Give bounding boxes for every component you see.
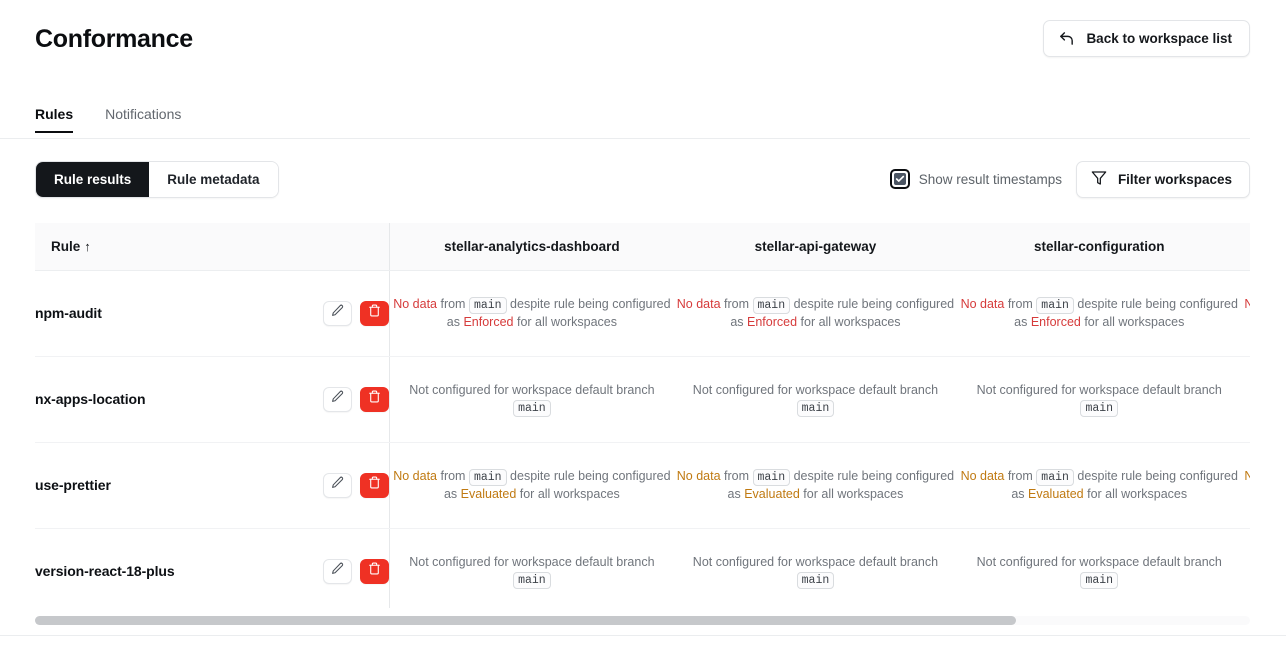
status-highlight: No data xyxy=(1244,469,1250,483)
filter-workspaces-label: Filter workspaces xyxy=(1118,172,1232,187)
edit-pencil-icon xyxy=(331,562,344,580)
page-header: Conformance Back to workspace list xyxy=(0,0,1286,80)
result-cell: Not configured for workspace default bra… xyxy=(674,356,958,442)
sort-ascending-icon: ↑ xyxy=(84,239,91,254)
rule-cell: nx-apps-location xyxy=(35,356,390,442)
status-highlight: No data xyxy=(393,469,437,483)
edit-pencil-icon xyxy=(331,390,344,408)
column-header-workspace-1[interactable]: stellar-api-gateway xyxy=(674,223,958,270)
edit-rule-button[interactable] xyxy=(323,387,352,412)
result-cell: No data from main despite rule being con… xyxy=(957,442,1241,528)
delete-rule-button[interactable] xyxy=(360,473,389,498)
status-highlight: No data xyxy=(961,469,1005,483)
status-highlight: No data xyxy=(961,297,1005,311)
branch-chip: main xyxy=(513,572,551,589)
table-row: nx-apps-locationNot configured for works… xyxy=(35,356,1250,442)
conformance-results-table: Rule↑ stellar-analytics-dashboard stella… xyxy=(35,223,1250,608)
rule-actions xyxy=(323,559,389,584)
column-header-rule-label: Rule xyxy=(51,239,80,254)
tab-bar: Rules Notifications xyxy=(35,106,213,133)
edit-rule-button[interactable] xyxy=(323,473,352,498)
result-cell: No data from main despite rule being con… xyxy=(390,442,674,528)
column-header-workspace-0[interactable]: stellar-analytics-dashboard xyxy=(390,223,674,270)
delete-rule-button[interactable] xyxy=(360,301,389,326)
back-to-workspace-list-button[interactable]: Back to workspace list xyxy=(1043,20,1250,57)
rule-name: nx-apps-location xyxy=(35,391,145,407)
result-cell: Not configured for workspace default bra… xyxy=(1241,528,1250,608)
edit-rule-button[interactable] xyxy=(323,559,352,584)
segment-rule-results[interactable]: Rule results xyxy=(36,162,149,197)
rule-actions xyxy=(323,473,389,498)
delete-trash-icon xyxy=(368,562,381,580)
branch-chip: main xyxy=(469,297,507,314)
show-result-timestamps-label: Show result timestamps xyxy=(919,172,1062,187)
column-header-rule[interactable]: Rule↑ xyxy=(35,223,390,270)
tabs-underline-divider xyxy=(0,138,1250,139)
column-header-workspace-2[interactable]: stellar-configuration xyxy=(957,223,1241,270)
result-cell: No data from main despite rule being con… xyxy=(957,270,1241,356)
toolbar: Rule results Rule metadata Show result t… xyxy=(35,161,1250,198)
delete-trash-icon xyxy=(368,476,381,494)
branch-chip: main xyxy=(469,469,507,486)
show-result-timestamps-control[interactable]: Show result timestamps xyxy=(890,169,1062,189)
table-body: npm-auditNo data from main despite rule … xyxy=(35,270,1250,608)
funnel-icon xyxy=(1091,170,1107,189)
conformance-results-table-scroll-area[interactable]: Rule↑ stellar-analytics-dashboard stella… xyxy=(35,223,1250,608)
branch-chip: main xyxy=(513,400,551,417)
bottom-divider xyxy=(0,635,1286,636)
status-highlight: Enforced xyxy=(1031,315,1081,329)
status-highlight: No data xyxy=(393,297,437,311)
rule-name: npm-audit xyxy=(35,305,102,321)
rule-actions xyxy=(323,301,389,326)
table-row: version-react-18-plusNot configured for … xyxy=(35,528,1250,608)
result-cell: Not configured for workspace default bra… xyxy=(390,528,674,608)
result-cell: No data from main despite rule being con… xyxy=(1241,270,1250,356)
back-arrow-icon xyxy=(1058,30,1075,47)
branch-chip: main xyxy=(753,469,791,486)
horizontal-scrollbar-thumb[interactable] xyxy=(35,616,1016,625)
horizontal-scrollbar-track[interactable] xyxy=(35,616,1250,625)
branch-chip: main xyxy=(1036,297,1074,314)
result-cell: Not configured for workspace default bra… xyxy=(957,356,1241,442)
result-cell: Not configured for workspace default bra… xyxy=(390,356,674,442)
branch-chip: main xyxy=(1080,572,1118,589)
delete-rule-button[interactable] xyxy=(360,387,389,412)
rule-cell: version-react-18-plus xyxy=(35,528,390,608)
tab-rules[interactable]: Rules xyxy=(35,106,73,133)
branch-chip: main xyxy=(797,400,835,417)
tab-notifications[interactable]: Notifications xyxy=(105,106,181,133)
status-highlight: Evaluated xyxy=(461,487,517,501)
result-cell: No data from main despite rule being con… xyxy=(674,270,958,356)
status-highlight: No data xyxy=(1244,297,1250,311)
rule-name: use-prettier xyxy=(35,477,111,493)
edit-rule-button[interactable] xyxy=(323,301,352,326)
edit-pencil-icon xyxy=(331,304,344,322)
branch-chip: main xyxy=(1080,400,1118,417)
table-header-row: Rule↑ stellar-analytics-dashboard stella… xyxy=(35,223,1250,270)
delete-rule-button[interactable] xyxy=(360,559,389,584)
page-title: Conformance xyxy=(35,24,193,54)
status-highlight: Evaluated xyxy=(744,487,800,501)
view-mode-segmented-control: Rule results Rule metadata xyxy=(35,161,279,198)
result-cell: Not configured for workspace default bra… xyxy=(674,528,958,608)
status-highlight: Evaluated xyxy=(1028,487,1084,501)
show-result-timestamps-checkbox[interactable] xyxy=(890,169,910,189)
rule-cell: use-prettier xyxy=(35,442,390,528)
delete-trash-icon xyxy=(368,390,381,408)
back-button-label: Back to workspace list xyxy=(1086,31,1232,46)
edit-pencil-icon xyxy=(331,476,344,494)
table-row: npm-auditNo data from main despite rule … xyxy=(35,270,1250,356)
filter-workspaces-button[interactable]: Filter workspaces xyxy=(1076,161,1250,198)
result-cell: No data from main despite rule being con… xyxy=(674,442,958,528)
rule-cell: npm-audit xyxy=(35,270,390,356)
result-cell: No data from main despite rule being con… xyxy=(390,270,674,356)
result-cell: No data from main despite rule being con… xyxy=(1241,442,1250,528)
status-highlight: No data xyxy=(677,297,721,311)
branch-chip: main xyxy=(753,297,791,314)
rule-name: version-react-18-plus xyxy=(35,563,175,579)
status-highlight: No data xyxy=(677,469,721,483)
table-row: use-prettierNo data from main despite ru… xyxy=(35,442,1250,528)
status-highlight: Enforced xyxy=(463,315,513,329)
result-cell: Not configured for workspace default bra… xyxy=(1241,356,1250,442)
status-highlight: Enforced xyxy=(747,315,797,329)
rule-actions xyxy=(323,387,389,412)
delete-trash-icon xyxy=(368,304,381,322)
branch-chip: main xyxy=(797,572,835,589)
column-header-workspace-3[interactable]: stellar-design-system xyxy=(1241,223,1250,270)
segment-rule-metadata[interactable]: Rule metadata xyxy=(149,162,277,197)
branch-chip: main xyxy=(1036,469,1074,486)
checkbox-checked-icon xyxy=(894,173,906,185)
result-cell: Not configured for workspace default bra… xyxy=(957,528,1241,608)
